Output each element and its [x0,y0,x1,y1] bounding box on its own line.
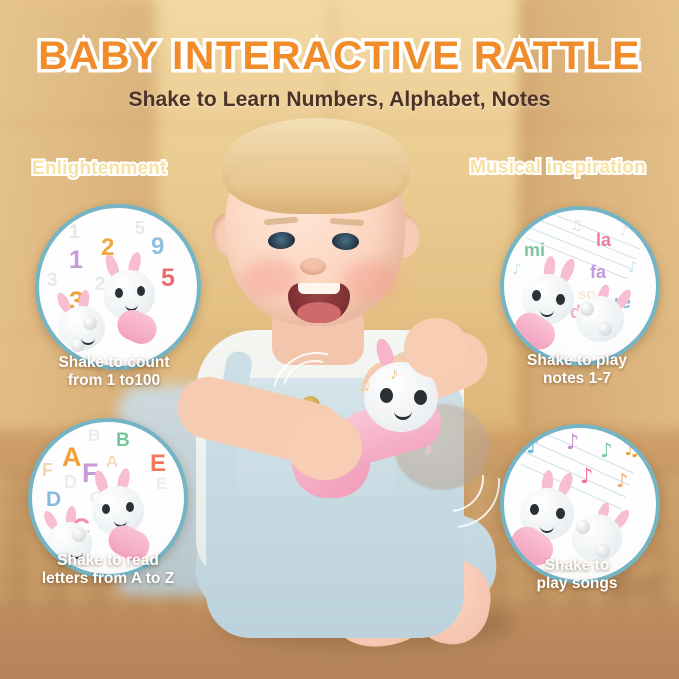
feature-caption-count: Shake to count from 1 to100 [18,354,210,390]
baby-teeth [298,283,340,294]
toy-pair-illustration [504,210,656,362]
feature-caption-letters: Shake to read letters from A to Z [12,552,204,588]
toy-eye [137,286,145,296]
toy-eye [126,502,134,512]
toy-knob [598,322,612,336]
product-infographic: ♫ ♪ ♪ BABY INTERACTIVE RATTLE Shake to L… [0,0,679,679]
toy-knob [72,528,86,542]
toy-eye [532,290,541,301]
baby-hair [222,118,410,214]
toy-eye [102,504,110,514]
toy-eye [115,288,123,298]
baby-hand-right [404,318,468,378]
baby-nose [300,258,326,275]
toy-eye [556,508,565,519]
toy-eye [530,504,539,515]
baby-cheek-right [343,260,399,300]
page-subtitle: Shake to Learn Numbers, Alphabet, Notes [0,88,679,112]
toy-knob [576,520,590,534]
rattle-eye-left [380,388,393,403]
feature-circle-count[interactable]: 152913253 [35,204,201,370]
toy-knob [580,302,594,316]
page-title: BABY INTERACTIVE RATTLE [0,34,679,79]
music-note-icon: ♫ [358,376,371,396]
feature-circle-notes[interactable]: ♪♪♫♪ milafaredoso [500,206,660,366]
section-heading-musical-inspiration: Musical inspiration [470,157,646,179]
section-heading-enlightenment: Enlightenment [32,158,167,180]
rattle-eye-right [414,390,427,405]
feature-caption-notes: Shake to play notes 1-7 [482,352,672,388]
music-note-icon: ♪ [424,438,433,458]
toy-eye [556,294,565,305]
toy-knob [83,316,97,330]
baby-hand-left [288,414,362,480]
music-note-icon: ♪ [390,364,399,384]
feature-caption-songs: Shake to play songs [482,557,672,593]
toy-pair-illustration [39,208,197,366]
baby-tongue [297,302,341,323]
toy-knob [596,544,610,558]
